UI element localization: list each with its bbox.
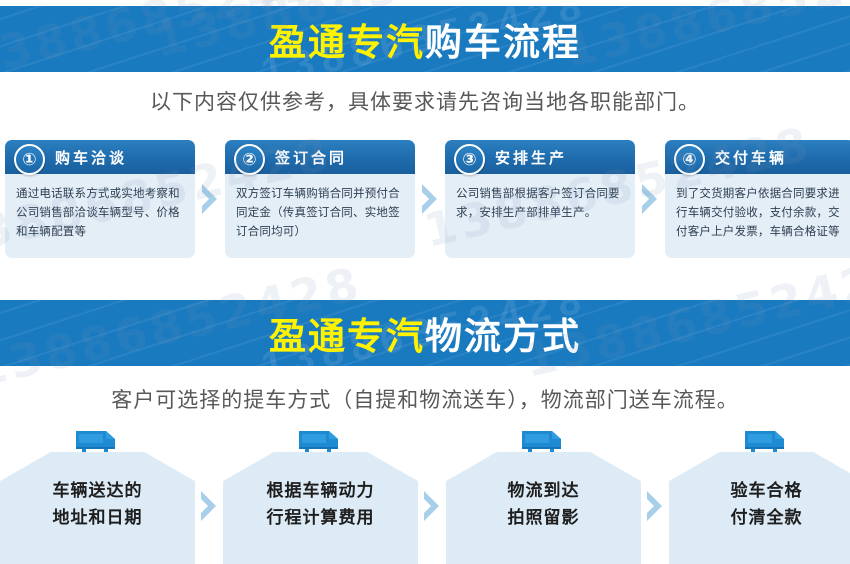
truck-icon: [296, 428, 346, 455]
step-card-4-header: ④ 交付车辆: [665, 140, 850, 174]
logistics-arrow-2: [418, 428, 446, 564]
step-number-badge: ②: [234, 144, 265, 175]
logistics-banner: 13886852428 盈通专汽物流方式: [0, 300, 850, 366]
page-root: 13886852428 13886852428 13886852428 1388…: [0, 0, 850, 564]
chevron-right-icon: [197, 488, 221, 529]
purchase-steps-row: ① 购车洽谈 通过电话联系方式或实地考察和公司销售部洽谈车辆型号、价格和车辆配置…: [0, 140, 850, 265]
step-number-badge: ④: [674, 144, 705, 175]
logistics-subtitle: 客户可选择的提车方式（自提和物流送车），物流部门送车流程。: [0, 384, 850, 414]
logistics-card-3-text: 物流到达 拍照留影: [446, 478, 641, 532]
logistics-card-1-line1: 车辆送达的: [0, 478, 195, 505]
step-card-1-title: 购车洽谈: [55, 147, 127, 168]
step-card-2-body: 双方签订车辆购销合同并预付合同定金（传真签订合同、实地签订合同均可）: [225, 174, 415, 241]
banner-title-brand: 盈通专汽: [269, 315, 425, 358]
step-card-4-body: 到了交货期客户依据合同要求进行车辆交付验收，支付余款，交付客户上户发票，车辆合格…: [665, 174, 850, 241]
logistics-card-3: 物流到达 拍照留影: [446, 428, 641, 564]
chevron-right-icon: [419, 182, 441, 216]
logistics-arrow-3: [641, 428, 669, 564]
step-arrow-3: [635, 140, 665, 258]
chevron-right-icon: [199, 182, 221, 216]
logistics-card-4: 验车合格 付清全款: [669, 428, 850, 564]
banner-title: 盈通专汽物流方式: [269, 306, 581, 360]
chevron-right-icon: [639, 182, 661, 216]
logistics-arrow-1: [195, 428, 223, 564]
step-arrow-1: [195, 140, 225, 258]
step-number-badge: ①: [14, 144, 45, 175]
step-card-2: ② 签订合同 双方签订车辆购销合同并预付合同定金（传真签订合同、实地签订合同均可…: [225, 140, 415, 258]
logistics-card-1-line2: 地址和日期: [0, 505, 195, 532]
step-arrow-2: [415, 140, 445, 258]
banner-title-suffix: 物流方式: [425, 315, 581, 358]
step-number-badge: ③: [454, 144, 485, 175]
purchase-process-banner: 13886852428 盈通专汽购车流程: [0, 6, 850, 72]
step-card-1-header: ① 购车洽谈: [5, 140, 195, 174]
banner-title-suffix: 购车流程: [425, 21, 581, 64]
step-card-3-header: ③ 安排生产: [445, 140, 635, 174]
banner-title-brand: 盈通专汽: [269, 21, 425, 64]
purchase-process-subtitle: 以下内容仅供参考，具体要求请先咨询当地各职能部门。: [0, 86, 850, 116]
step-card-3-title: 安排生产: [495, 147, 567, 168]
logistics-card-1-text: 车辆送达的 地址和日期: [0, 478, 195, 532]
step-card-2-header: ② 签订合同: [225, 140, 415, 174]
logistics-card-4-text: 验车合格 付清全款: [669, 478, 850, 532]
truck-icon: [519, 428, 569, 455]
truck-icon: [742, 428, 792, 455]
logistics-card-2-text: 根据车辆动力 行程计算费用: [223, 478, 418, 532]
step-card-3-body: 公司销售部根据客户签订合同要求，安排生产部排单生产。: [445, 174, 635, 222]
logistics-card-2: 根据车辆动力 行程计算费用: [223, 428, 418, 564]
step-card-1-body: 通过电话联系方式或实地考察和公司销售部洽谈车辆型号、价格和车辆配置等: [5, 174, 195, 241]
logistics-card-2-line1: 根据车辆动力: [223, 478, 418, 505]
logistics-card-2-line2: 行程计算费用: [223, 505, 418, 532]
logistics-card-3-line2: 拍照留影: [446, 505, 641, 532]
step-card-4-title: 交付车辆: [715, 147, 787, 168]
step-card-2-title: 签订合同: [275, 147, 347, 168]
logistics-card-4-line2: 付清全款: [669, 505, 850, 532]
chevron-right-icon: [420, 488, 444, 529]
truck-icon: [73, 428, 123, 455]
logistics-steps-row: 车辆送达的 地址和日期 根据车辆动力: [0, 428, 850, 564]
banner-title: 盈通专汽购车流程: [269, 12, 581, 66]
chevron-right-icon: [643, 488, 667, 529]
logistics-card-4-line1: 验车合格: [669, 478, 850, 505]
step-card-1: ① 购车洽谈 通过电话联系方式或实地考察和公司销售部洽谈车辆型号、价格和车辆配置…: [5, 140, 195, 258]
step-card-4: ④ 交付车辆 到了交货期客户依据合同要求进行车辆交付验收，支付余款，交付客户上户…: [665, 140, 850, 258]
step-card-3: ③ 安排生产 公司销售部根据客户签订合同要求，安排生产部排单生产。: [445, 140, 635, 258]
logistics-card-1: 车辆送达的 地址和日期: [0, 428, 195, 564]
logistics-card-3-line1: 物流到达: [446, 478, 641, 505]
